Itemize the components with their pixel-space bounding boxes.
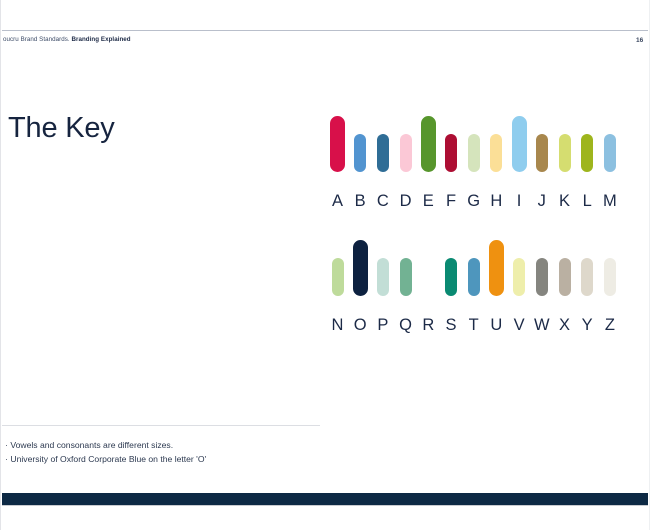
- key-row-n-z: NOPQRSTUVWXYZ: [330, 234, 626, 337]
- bullet-icon: ·: [5, 453, 8, 467]
- key-letter-g: G: [464, 191, 484, 211]
- key-letter-c: C: [373, 191, 393, 211]
- key-letter-f: F: [441, 191, 461, 211]
- key-bar-p: [377, 258, 389, 296]
- key-letter-q: Q: [396, 315, 416, 335]
- key-bar-w: [536, 258, 548, 296]
- key-bar-h: [490, 134, 502, 172]
- key-letter-m: M: [600, 191, 620, 211]
- header-breadcrumb: oucru Brand Standards. Branding Explaine…: [3, 36, 131, 43]
- key-letter-y: Y: [577, 315, 597, 335]
- key-bar-a: [330, 116, 345, 172]
- key-letter-k: K: [555, 191, 575, 211]
- key-bar-n: [332, 258, 344, 296]
- key-bars-a-m: [330, 110, 626, 172]
- key-letters-n-z: NOPQRSTUVWXYZ: [330, 315, 626, 337]
- key-bar-g: [468, 134, 480, 172]
- key-bar-o: [353, 240, 368, 296]
- key-bar-e: [421, 116, 436, 172]
- key-letter-o: O: [350, 315, 370, 335]
- key-bars-n-z: [330, 234, 626, 296]
- key-letter-v: V: [509, 315, 529, 335]
- footer-bar-edge: [2, 505, 648, 506]
- key-letter-e: E: [418, 191, 438, 211]
- key-letter-t: T: [464, 315, 484, 335]
- key-letter-b: B: [350, 191, 370, 211]
- key-bar-j: [536, 134, 548, 172]
- key-letter-u: U: [486, 315, 506, 335]
- key-letters-a-m: ABCDEFGHIJKLM: [330, 191, 626, 213]
- note-item: ·University of Oxford Corporate Blue on …: [5, 453, 335, 467]
- key-row-a-m: ABCDEFGHIJKLM: [330, 110, 626, 213]
- key-letter-w: W: [532, 315, 552, 335]
- key-bar-i: [512, 116, 527, 172]
- key-letter-n: N: [328, 315, 348, 335]
- key-letter-l: L: [577, 191, 597, 211]
- key-letter-j: J: [532, 191, 552, 211]
- key-bar-r: [422, 258, 434, 296]
- key-bar-m: [604, 134, 616, 172]
- key-bar-v: [513, 258, 525, 296]
- page-title: The Key: [8, 114, 115, 143]
- key-letter-d: D: [396, 191, 416, 211]
- key-letter-s: S: [441, 315, 461, 335]
- key-bar-q: [400, 258, 412, 296]
- key-letter-i: I: [509, 191, 529, 211]
- note-item: ·Vowels and consonants are different siz…: [5, 439, 335, 453]
- key-bar-y: [581, 258, 593, 296]
- notes-divider: [2, 425, 320, 426]
- key-bar-s: [445, 258, 457, 296]
- page-border-left: [0, 0, 1, 530]
- header-brand-prefix: oucru: [3, 36, 19, 43]
- key-bar-d: [400, 134, 412, 172]
- header-section-text: Branding Explained: [71, 36, 130, 43]
- note-text: University of Oxford Corporate Blue on t…: [10, 454, 206, 464]
- key-bar-b: [354, 134, 366, 172]
- key-bar-t: [468, 258, 480, 296]
- key-letter-a: A: [328, 191, 348, 211]
- key-letter-p: P: [373, 315, 393, 335]
- key-bar-c: [377, 134, 389, 172]
- footer-bar: [2, 493, 648, 505]
- note-text: Vowels and consonants are different size…: [10, 440, 173, 450]
- slide-canvas: oucru Brand Standards. Branding Explaine…: [0, 0, 650, 530]
- key-bar-x: [559, 258, 571, 296]
- page-number: 16: [636, 37, 643, 44]
- notes-list: ·Vowels and consonants are different siz…: [5, 439, 335, 466]
- header-brand-text: Brand Standards.: [21, 36, 70, 43]
- header-divider: [2, 30, 648, 31]
- key-letter-r: R: [418, 315, 438, 335]
- bullet-icon: ·: [5, 439, 8, 453]
- key-letter-z: Z: [600, 315, 620, 335]
- key-bar-l: [581, 134, 593, 172]
- key-bar-z: [604, 258, 616, 296]
- key-letter-h: H: [486, 191, 506, 211]
- key-bar-u: [489, 240, 504, 296]
- key-bar-k: [559, 134, 571, 172]
- key-bar-f: [445, 134, 457, 172]
- key-letter-x: X: [555, 315, 575, 335]
